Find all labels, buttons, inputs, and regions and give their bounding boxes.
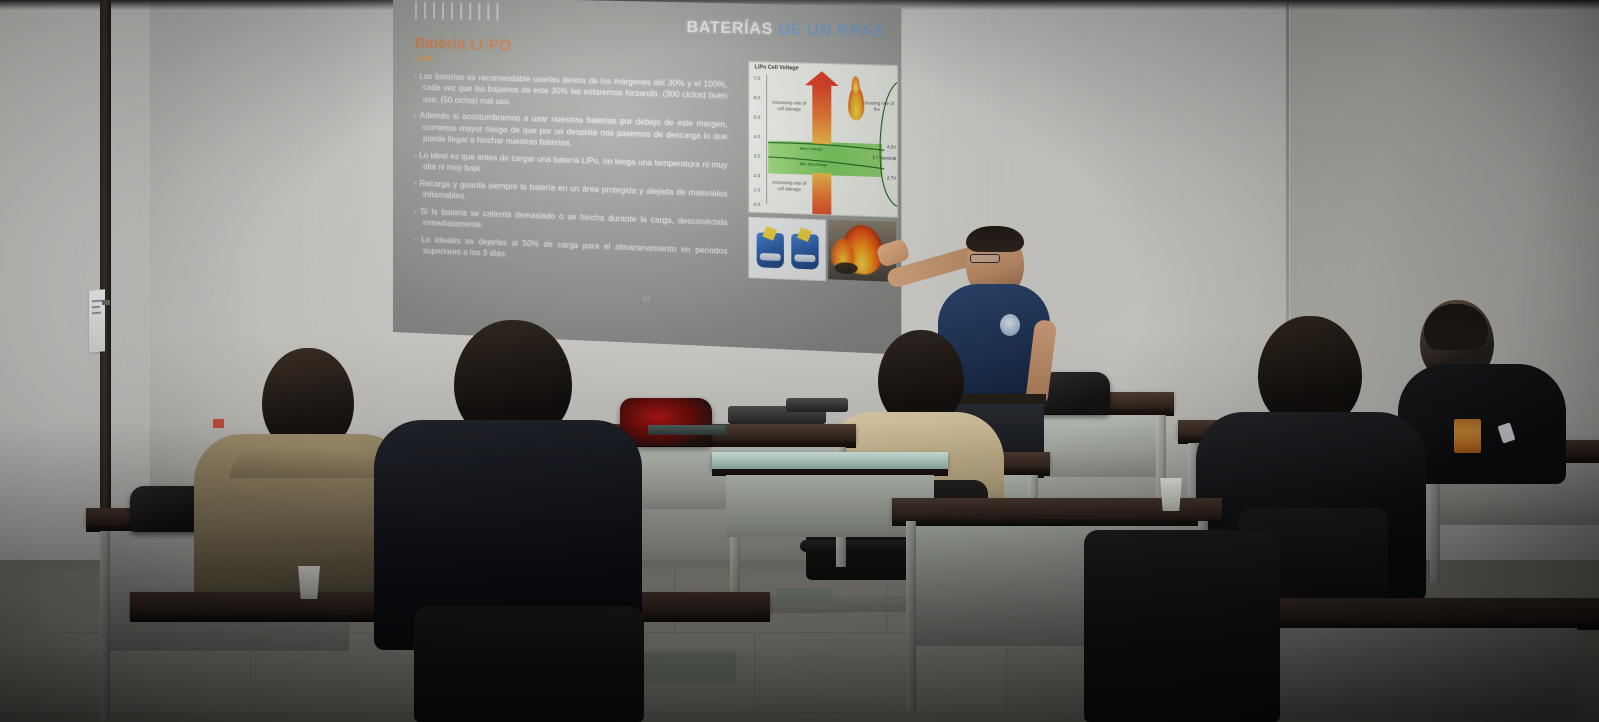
door-plate[interactable] [102, 300, 110, 305]
glasses-icon [970, 254, 1000, 263]
chart-down-arrow-icon [812, 173, 831, 218]
chart-voltage-lines [768, 134, 884, 173]
chart-voltage-marker: 3.7 Nominal [872, 155, 896, 161]
chart-annotation: Increasing rate of cell damage [770, 180, 808, 193]
lipo-cell-voltage-chart: LiPo Cell Voltage 7.0 6.0 5.0 4.0 3.0 2.… [748, 61, 898, 218]
slide-bullet-list: - Las baterías es recomendable usarlas d… [411, 70, 727, 274]
presenter-hair [966, 226, 1024, 252]
slide-header-white: BATERÍAS [687, 19, 773, 38]
slide-header-blue: DE UN RPAS [773, 21, 884, 41]
wall-sign [89, 289, 105, 352]
laptop-on-desk [648, 425, 726, 435]
amber-drink-cup[interactable] [1454, 419, 1481, 453]
slide-bullet: - Además si acostumbramos a usar nuestra… [411, 110, 727, 155]
chart-ytick: 7.0 [754, 76, 761, 81]
chair-bottom-right[interactable] [1084, 530, 1280, 722]
chair-front-left[interactable] [414, 606, 644, 722]
chart-ytick: 2.0 [754, 173, 761, 178]
slide-heading: Batería LI-PO [415, 35, 511, 54]
chart-title: LiPo Cell Voltage [755, 64, 799, 71]
chart-ytick: 1.0 [754, 187, 761, 192]
chart-ytick: 4.0 [754, 134, 761, 139]
hoodie-hood [230, 444, 380, 478]
door-frame[interactable] [100, 0, 111, 560]
slide-bullet: - Lo ideal es que antes de cargar una ba… [411, 149, 727, 183]
slide-header: BATERÍAS DE UN RPAS [687, 19, 885, 42]
drone-parts [786, 398, 848, 412]
chart-ytick: 5.0 [754, 114, 761, 119]
slide-photo-row [748, 217, 896, 286]
chart-ytick: 0.0 [754, 202, 761, 207]
chart-ytick: 3.0 [754, 153, 761, 158]
presenter-hand [875, 238, 910, 268]
chart-voltage-marker: 2.7V [887, 175, 896, 180]
slide-tick-decoration [415, 1, 498, 20]
chart-voltage-marker: 4.2V [887, 144, 896, 149]
chart-ytick: 6.0 [754, 95, 761, 100]
lipo-safe-bags-photo [748, 217, 826, 282]
slide-bullet: - Lo ideales es dejarlas al 50% de carga… [411, 233, 727, 268]
chart-y-axis [766, 75, 767, 204]
projected-slide: BATERÍAS DE UN RPAS Batería LI-PO Uso - … [393, 0, 901, 355]
slide-subheading: Uso [415, 53, 433, 64]
slide-bullet: - Las baterías es recomendable usarlas d… [411, 70, 727, 114]
slide-page-number: 13 [643, 296, 650, 302]
student-front-center-left [374, 320, 642, 620]
chart-flame-icon [848, 85, 864, 120]
chart-annotation: Increasing rate of cell damage [770, 100, 808, 113]
classroom-scene: BATERÍAS DE UN RPAS Batería LI-PO Uso - … [0, 0, 1599, 722]
